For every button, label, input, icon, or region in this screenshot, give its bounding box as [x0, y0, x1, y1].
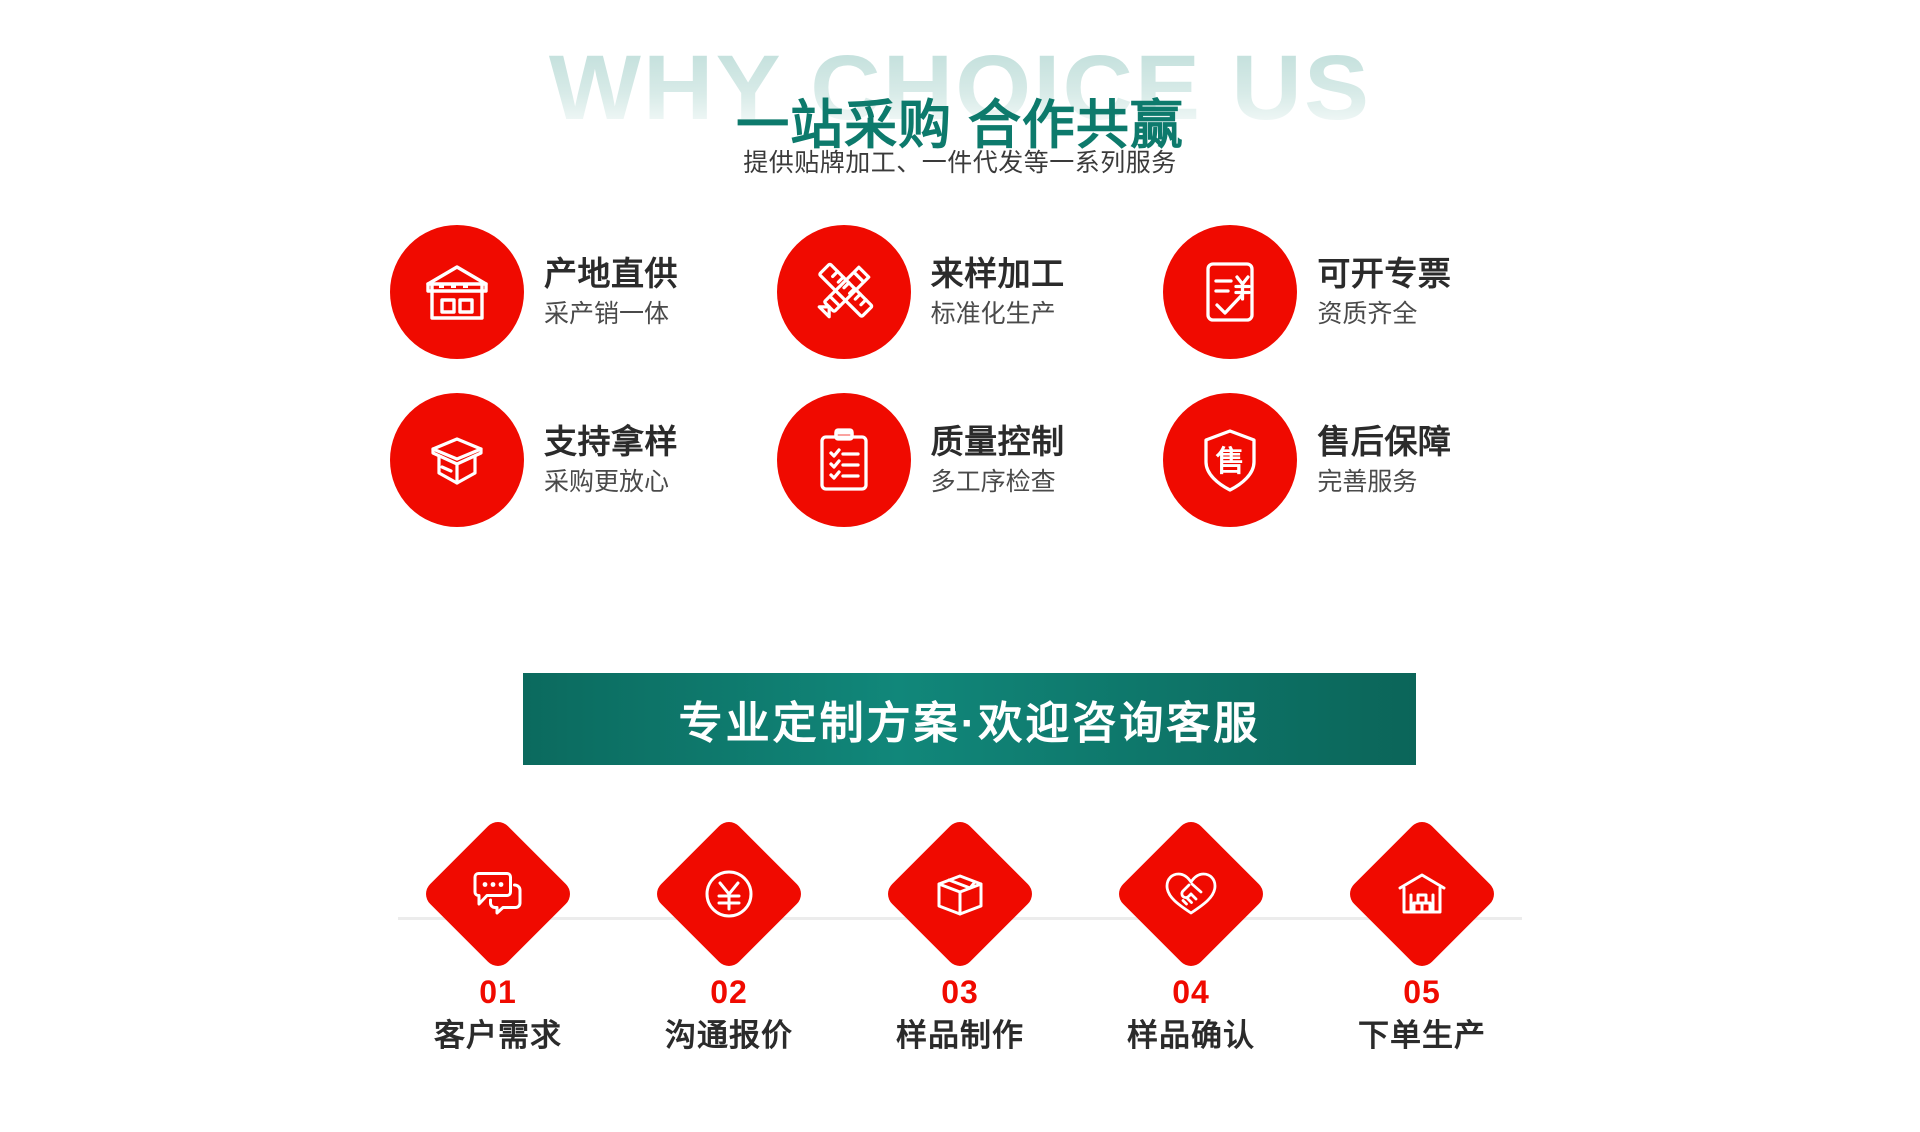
feature-grid: 产地直供 采产销一体 [390, 208, 1550, 544]
yuan-circle-icon [700, 865, 758, 923]
feature-text-block: 售后保障 完善服务 [1317, 421, 1451, 500]
step-diamond [424, 820, 572, 968]
warehouse-boxes-icon [1392, 864, 1452, 924]
feature-item-laiyangjiagong[interactable]: 来样加工 标准化生产 [777, 208, 1164, 376]
box-3d-icon [929, 863, 991, 925]
promo-page: WHY CHOICE US 一站采购 合作共赢 提供贴牌加工、一件代发等一系列服… [0, 0, 1920, 1132]
feature-text-block: 可开专票 资质齐全 [1317, 253, 1451, 332]
feature-item-chandizhigong[interactable]: 产地直供 采产销一体 [390, 208, 777, 376]
step-label: 客户需求 [434, 1020, 562, 1051]
step-diamond [1117, 820, 1265, 968]
handshake-heart-icon [1159, 862, 1223, 926]
ruler-pencil-icon [777, 225, 911, 359]
warehouse-icon [390, 225, 524, 359]
feature-text-block: 支持拿样 采购更放心 [544, 421, 678, 500]
open-box-icon [390, 393, 524, 527]
feature-desc: 采产销一体 [544, 298, 678, 332]
feature-item-kekaizhuanpiao[interactable]: 可开专票 资质齐全 [1163, 208, 1550, 376]
feature-desc: 采购更放心 [544, 466, 678, 500]
process-step-05[interactable]: 05 下单生产 [1322, 820, 1522, 1051]
feature-title: 售后保障 [1317, 421, 1451, 462]
invoice-yuan-check-icon [1163, 225, 1297, 359]
shield-shou-icon: 售 [1163, 393, 1297, 527]
feature-text-block: 质量控制 多工序检查 [931, 421, 1065, 500]
process-section: 01 客户需求 02 沟通报价 [0, 820, 1920, 1120]
feature-desc: 完善服务 [1317, 466, 1451, 500]
header-section: WHY CHOICE US 一站采购 合作共赢 提供贴牌加工、一件代发等一系列服… [0, 0, 1920, 230]
step-label: 下单生产 [1358, 1020, 1486, 1051]
step-number: 03 [941, 976, 979, 1008]
step-label: 样品确认 [1127, 1020, 1255, 1051]
process-steps: 01 客户需求 02 沟通报价 [398, 820, 1522, 1051]
feature-text-block: 产地直供 采产销一体 [544, 253, 678, 332]
feature-item-zhiliangkongzhi[interactable]: 质量控制 多工序检查 [777, 376, 1164, 544]
page-subtitle: 提供贴牌加工、一件代发等一系列服务 [0, 143, 1920, 179]
feature-title: 来样加工 [931, 253, 1065, 294]
feature-title: 支持拿样 [544, 421, 678, 462]
process-step-03[interactable]: 03 样品制作 [860, 820, 1060, 1051]
step-number: 01 [479, 976, 517, 1008]
step-diamond [1348, 820, 1496, 968]
step-number: 02 [710, 976, 748, 1008]
feature-desc: 标准化生产 [931, 298, 1065, 332]
clipboard-checklist-icon [777, 393, 911, 527]
feature-text-block: 来样加工 标准化生产 [931, 253, 1065, 332]
feature-title: 质量控制 [931, 421, 1065, 462]
svg-text:售: 售 [1216, 445, 1245, 478]
chat-bubbles-icon [467, 863, 529, 925]
step-diamond [886, 820, 1034, 968]
cta-banner[interactable]: 专业定制方案·欢迎咨询客服 [523, 673, 1416, 765]
feature-desc: 多工序检查 [931, 466, 1065, 500]
cta-banner-text: 专业定制方案·欢迎咨询客服 [679, 687, 1261, 751]
feature-item-shouhoubaozhang[interactable]: 售 售后保障 完善服务 [1163, 376, 1550, 544]
step-number: 04 [1172, 976, 1210, 1008]
step-label: 沟通报价 [665, 1020, 793, 1051]
feature-item-zhichinayang[interactable]: 支持拿样 采购更放心 [390, 376, 777, 544]
feature-title: 产地直供 [544, 253, 678, 294]
process-step-01[interactable]: 01 客户需求 [398, 820, 598, 1051]
feature-desc: 资质齐全 [1317, 298, 1451, 332]
feature-title: 可开专票 [1317, 253, 1451, 294]
step-diamond [655, 820, 803, 968]
process-step-04[interactable]: 04 样品确认 [1091, 820, 1291, 1051]
step-number: 05 [1403, 976, 1441, 1008]
step-label: 样品制作 [896, 1020, 1024, 1051]
process-step-02[interactable]: 02 沟通报价 [629, 820, 829, 1051]
